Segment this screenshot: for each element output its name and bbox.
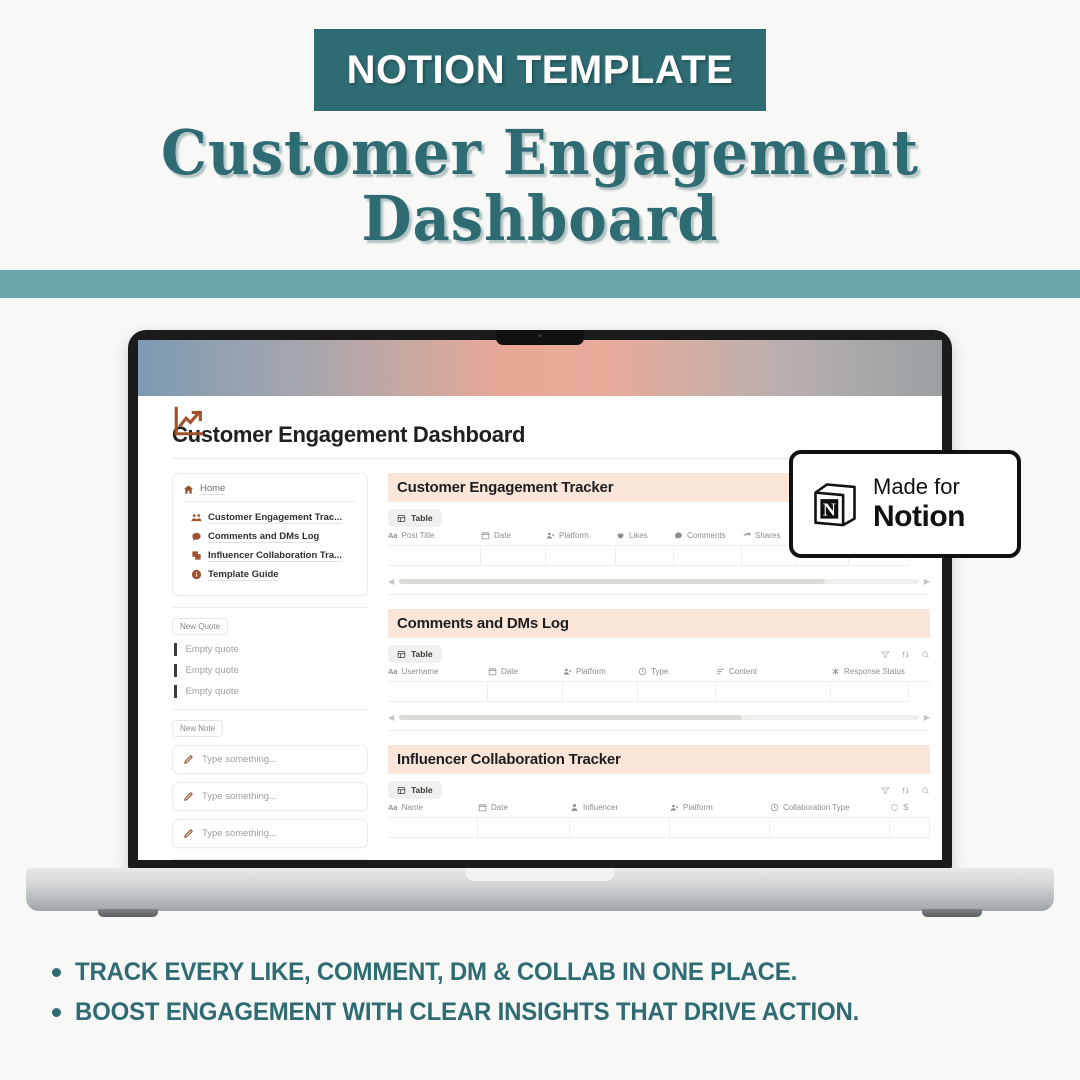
column-header[interactable]: AaUsername <box>388 667 488 676</box>
search-icon <box>921 650 930 659</box>
column-header[interactable]: Likes <box>616 531 674 540</box>
column-header[interactable]: Comments <box>674 531 742 540</box>
bullet-dot-icon <box>52 1008 61 1017</box>
sidebar-item-customer-engagement-tracker[interactable]: Customer Engagement Trac... <box>183 508 357 527</box>
heart-icon <box>616 531 625 540</box>
view-tab-label: Table <box>411 513 433 523</box>
quote-text: Empty quote <box>186 644 239 655</box>
database-block: Influencer Collaboration Tracker Table A… <box>388 745 930 838</box>
table-cell[interactable] <box>638 682 716 702</box>
laptop-lid: Customer Engagement Dashboard Home <box>128 330 952 870</box>
text-icon: Aa <box>388 803 398 812</box>
sidebar-home-label: Home <box>200 483 225 495</box>
table-cell[interactable] <box>770 818 890 838</box>
page-title: Customer Engagement Dashboard <box>38 120 1042 252</box>
column-header[interactable]: Collaboration Type <box>770 803 890 812</box>
sort-icon[interactable] <box>901 786 910 795</box>
table-cell[interactable] <box>388 682 488 702</box>
table-cell[interactable] <box>570 818 670 838</box>
sort-icon[interactable] <box>901 650 910 659</box>
people-icon <box>191 512 202 523</box>
search-icon[interactable] <box>921 650 930 659</box>
column-header-label: Platform <box>576 667 606 676</box>
lines-icon <box>716 667 725 676</box>
scrollbar-thumb[interactable] <box>399 579 825 584</box>
laptop-base <box>26 868 1054 911</box>
sidebar-item-comments-and-dms-log[interactable]: Comments and DMs Log <box>183 527 357 546</box>
table-cell[interactable] <box>674 546 742 566</box>
table-icon <box>397 786 406 795</box>
note-section: New Note Type something... Type somethin… <box>172 709 368 848</box>
bullet-dot-icon <box>52 968 61 977</box>
column-header[interactable]: Platform <box>563 667 638 676</box>
filter-icon[interactable] <box>881 786 890 795</box>
scrollbar-track[interactable] <box>399 715 919 720</box>
calendar-icon <box>481 531 490 540</box>
view-tab-table[interactable]: Table <box>388 645 442 663</box>
column-header-label: Platform <box>559 531 589 540</box>
scroll-right-arrow[interactable]: ▶ <box>924 713 930 722</box>
column-header-label: Date <box>501 667 518 676</box>
person-icon <box>570 803 579 812</box>
page-title-line-2: Dashboard <box>38 186 1042 252</box>
select-icon <box>770 803 779 812</box>
column-header-label: Post Title <box>402 531 435 540</box>
quote-section: New Quote Empty quote Empty quote <box>172 607 368 698</box>
column-header-label: Likes <box>629 531 648 540</box>
bullet-item: TRACK EVERY LIKE, COMMENT, DM & COLLAB I… <box>52 958 1042 987</box>
horizontal-scrollbar[interactable]: ◀ ▶ <box>388 713 930 722</box>
asterisk-icon <box>831 667 840 676</box>
made-for-label: Made for <box>873 476 965 498</box>
table-cell[interactable] <box>890 818 930 838</box>
table-cell[interactable] <box>831 682 909 702</box>
note-placeholder: Type something... <box>202 791 277 802</box>
note-placeholder: Type something... <box>202 754 277 765</box>
table-header-row: AaUsernameDatePlatformTypeContentRespons… <box>388 667 930 682</box>
table-cell[interactable] <box>716 682 831 702</box>
bullet-text: TRACK EVERY LIKE, COMMENT, DM & COLLAB I… <box>75 958 797 987</box>
column-header-label: Date <box>494 531 511 540</box>
sidebar-item-home[interactable]: Home <box>183 483 357 501</box>
search-icon[interactable] <box>921 786 930 795</box>
table-cell[interactable] <box>388 546 481 566</box>
quote-item[interactable]: Empty quote <box>172 664 368 677</box>
pencil-icon <box>183 754 194 765</box>
column-header[interactable]: S <box>890 803 930 812</box>
svg-text:N: N <box>823 499 836 519</box>
note-input[interactable]: Type something... <box>172 745 368 774</box>
filter-icon <box>881 786 890 795</box>
column-header[interactable]: Date <box>481 531 546 540</box>
sidebar-nav-card: Home Customer Engagement Trac... Comment… <box>172 473 368 596</box>
table-cell[interactable] <box>670 818 770 838</box>
notion-cover-image <box>138 340 942 396</box>
person-add-icon <box>563 667 572 676</box>
table-icon <box>397 514 406 523</box>
laptop-notch <box>496 330 584 345</box>
note-input[interactable]: Type something... <box>172 782 368 811</box>
database-divider <box>388 594 930 595</box>
scroll-left-arrow[interactable]: ◀ <box>388 713 394 722</box>
note-placeholder: Type something... <box>202 828 277 839</box>
note-input[interactable]: Type something... <box>172 819 368 848</box>
section-divider <box>172 709 368 710</box>
database-title: Influencer Collaboration Tracker <box>388 745 930 774</box>
column-header-label: Date <box>491 803 508 812</box>
column-header[interactable]: Response Status <box>831 667 909 676</box>
sidebar-item-influencer-collaboration-tracker[interactable]: Influencer Collaboration Tra... <box>183 546 357 565</box>
sort-icon <box>901 650 910 659</box>
laptop-foot <box>98 909 158 917</box>
sidebar-item-label: Template Guide <box>208 569 279 581</box>
made-for-notion-badge: N Made for Notion <box>789 450 1021 558</box>
notion-brand-label: Notion <box>873 502 965 532</box>
table-cell[interactable] <box>481 546 546 566</box>
table-cell[interactable] <box>563 682 638 702</box>
quote-text: Empty quote <box>186 665 239 676</box>
bullet-text: BOOST ENGAGEMENT WITH CLEAR INSIGHTS THA… <box>75 998 859 1027</box>
sidebar-column: Home Customer Engagement Trac... Comment… <box>172 473 368 860</box>
status-icon <box>890 803 899 812</box>
quote-item[interactable]: Empty quote <box>172 643 368 656</box>
page-title-line-1: Customer Engagement <box>38 120 1042 186</box>
column-header-label: Type <box>651 667 668 676</box>
new-note-button[interactable]: New Note <box>172 720 223 737</box>
speech-bubble-icon <box>191 531 202 542</box>
teal-divider-bar <box>0 270 1080 298</box>
database-title: Comments and DMs Log <box>388 609 930 638</box>
column-header-label: Collaboration Type <box>783 803 850 812</box>
column-header[interactable]: Date <box>488 667 563 676</box>
column-header-label: Comments <box>687 531 726 540</box>
notion-template-badge: NOTION TEMPLATE <box>314 29 766 111</box>
speech-bubble-icon <box>674 531 683 540</box>
column-header-label: Shares <box>755 531 780 540</box>
database-toolbar <box>881 650 930 659</box>
quote-text: Empty quote <box>186 686 239 697</box>
table-header-row: AaNameDateInfluencerPlatformCollaboratio… <box>388 803 930 818</box>
laptop-screen: Customer Engagement Dashboard Home <box>138 340 942 860</box>
pencil-icon <box>183 828 194 839</box>
quote-item[interactable]: Empty quote <box>172 685 368 698</box>
scrollbar-track[interactable] <box>399 579 919 584</box>
section-divider <box>172 859 368 860</box>
calendar-icon <box>478 803 487 812</box>
column-header-label: Username <box>402 667 439 676</box>
person-add-icon <box>670 803 679 812</box>
copy-icon <box>191 550 202 561</box>
sidebar-item-label: Comments and DMs Log <box>208 531 319 543</box>
quote-bar <box>174 685 177 698</box>
column-header-label: Platform <box>683 803 713 812</box>
search-icon <box>921 786 930 795</box>
quote-bar <box>174 664 177 677</box>
sort-icon <box>901 786 910 795</box>
text-icon: Aa <box>388 531 398 540</box>
calendar-icon <box>488 667 497 676</box>
database-toolbar <box>881 786 930 795</box>
laptop-foot <box>922 909 982 917</box>
chart-up-icon <box>172 404 206 438</box>
person-add-icon <box>546 531 555 540</box>
sidebar-divider <box>183 501 357 502</box>
table-icon <box>397 650 406 659</box>
column-header-label: S <box>903 803 908 812</box>
table-row[interactable] <box>388 682 930 702</box>
feature-bullets: TRACK EVERY LIKE, COMMENT, DM & COLLAB I… <box>52 958 1042 1038</box>
scroll-right-arrow[interactable]: ▶ <box>924 577 930 586</box>
laptop-mockup: Customer Engagement Dashboard Home <box>0 300 1080 940</box>
table-cell[interactable] <box>488 682 563 702</box>
table-cell[interactable] <box>546 546 616 566</box>
bullet-item: BOOST ENGAGEMENT WITH CLEAR INSIGHTS THA… <box>52 998 1042 1027</box>
table-row[interactable] <box>388 818 930 838</box>
filter-icon <box>881 650 890 659</box>
view-tab-table[interactable]: Table <box>388 509 442 527</box>
share-icon <box>742 531 751 540</box>
column-header-label: Response Status <box>844 667 905 676</box>
notion-cube-icon: N <box>809 478 861 530</box>
column-header[interactable]: Influencer <box>570 803 670 812</box>
sidebar-item-label: Customer Engagement Trac... <box>208 512 342 524</box>
column-header-label: Content <box>729 667 757 676</box>
task-section: New Task To-do <box>172 859 368 860</box>
scrollbar-thumb[interactable] <box>399 715 742 720</box>
table-cell[interactable] <box>616 546 674 566</box>
sidebar-item-label: Influencer Collaboration Tra... <box>208 550 342 562</box>
column-header[interactable]: AaPost Title <box>388 531 481 540</box>
scroll-left-arrow[interactable]: ◀ <box>388 577 394 586</box>
text-icon: Aa <box>388 667 398 676</box>
view-tab-table[interactable]: Table <box>388 781 442 799</box>
table-cell[interactable] <box>478 818 570 838</box>
database-block: Comments and DMs Log Table AaUsernameDat… <box>388 609 930 731</box>
new-quote-button[interactable]: New Quote <box>172 618 228 635</box>
notion-page-title: Customer Engagement Dashboard <box>172 422 908 448</box>
table-cell[interactable] <box>388 818 478 838</box>
column-header[interactable]: Type <box>638 667 716 676</box>
horizontal-scrollbar[interactable]: ◀ ▶ <box>388 577 930 586</box>
notion-template-badge-label: NOTION TEMPLATE <box>347 48 734 93</box>
database-divider <box>388 730 930 731</box>
view-tab-label: Table <box>411 649 433 659</box>
sidebar-item-template-guide[interactable]: Template Guide <box>183 565 357 584</box>
info-icon <box>191 569 202 580</box>
view-tab-label: Table <box>411 785 433 795</box>
column-header[interactable]: AaName <box>388 803 478 812</box>
column-header-label: Name <box>402 803 423 812</box>
column-header[interactable]: Platform <box>670 803 770 812</box>
quote-bar <box>174 643 177 656</box>
section-divider <box>172 607 368 608</box>
pencil-icon <box>183 791 194 802</box>
column-header-label: Influencer <box>583 803 618 812</box>
column-header[interactable]: Date <box>478 803 570 812</box>
column-header[interactable]: Content <box>716 667 831 676</box>
home-icon <box>183 484 194 495</box>
select-icon <box>638 667 647 676</box>
column-header[interactable]: Platform <box>546 531 616 540</box>
filter-icon[interactable] <box>881 650 890 659</box>
